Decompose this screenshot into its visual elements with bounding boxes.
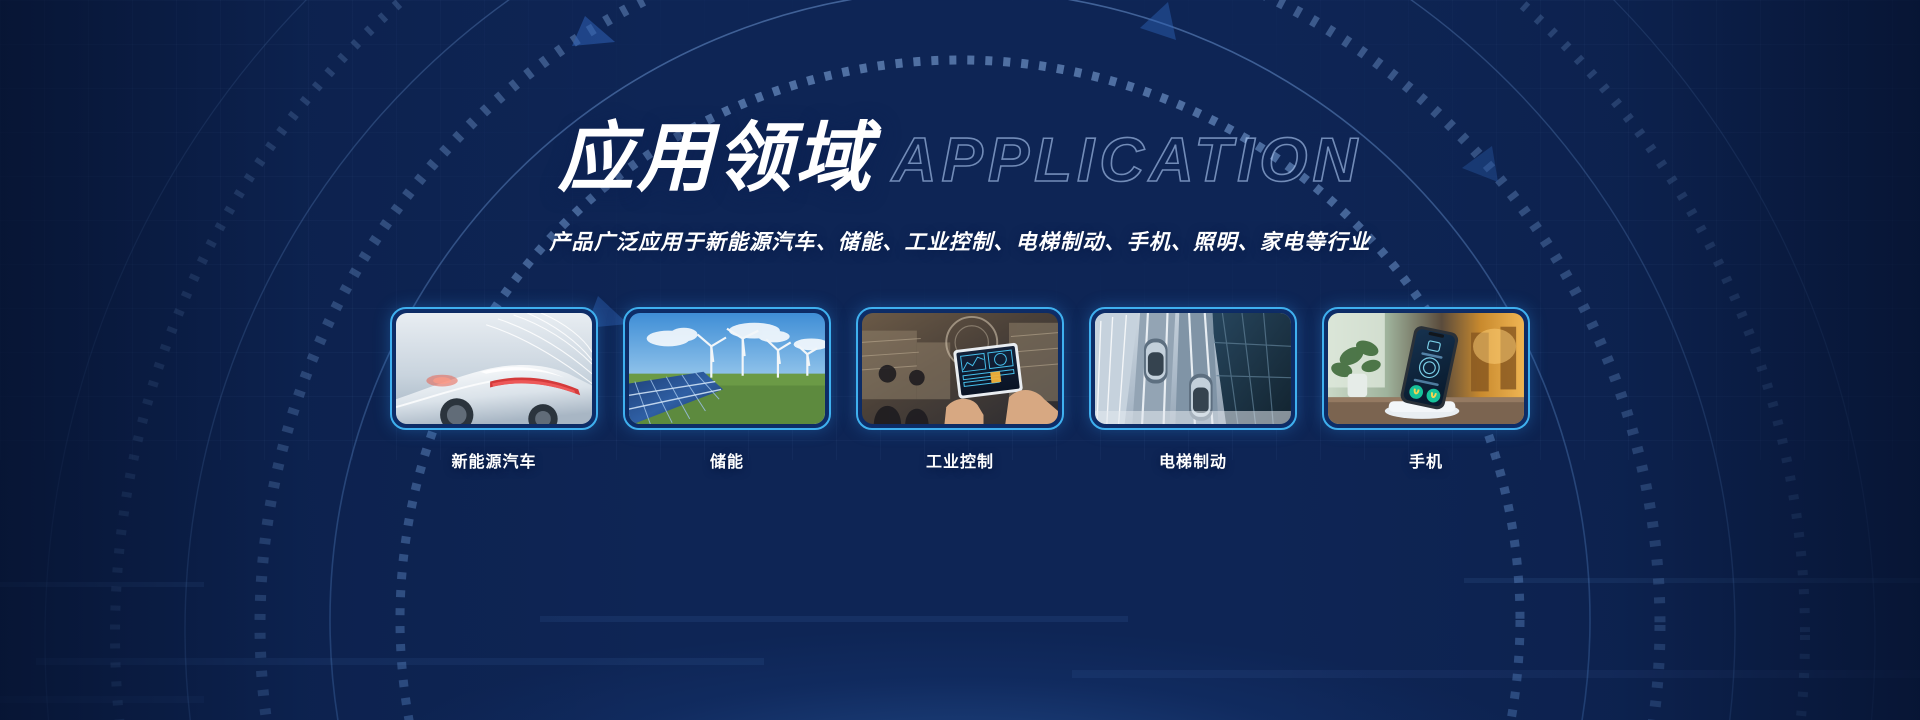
card-frame[interactable] [390, 307, 598, 430]
page-title: 应用领域 [558, 120, 874, 196]
floor-light-streaks [0, 520, 1920, 720]
mobile-phone-image [1328, 313, 1524, 424]
ev-car-image [396, 313, 592, 424]
card-frame[interactable] [856, 307, 1064, 430]
industrial-control-image [862, 313, 1058, 424]
application-card-list: 新能源汽车 [0, 307, 1920, 472]
title-row: 应用领域 APPLICATION [0, 112, 1920, 204]
card-frame[interactable] [1089, 307, 1297, 430]
elevator-brake-image [1095, 313, 1291, 424]
application-card-ev-car[interactable]: 新能源汽车 [390, 307, 598, 472]
banner-heading-block: 应用领域 APPLICATION 产品广泛应用于新能源汽车、储能、工业控制、电梯… [0, 112, 1920, 256]
card-label: 工业控制 [856, 448, 1064, 472]
card-label: 电梯制动 [1089, 448, 1297, 472]
application-card-energy-storage[interactable]: 储能 [623, 307, 831, 472]
card-frame[interactable] [1322, 307, 1530, 430]
energy-storage-image [629, 313, 825, 424]
page-subtitle: 产品广泛应用于新能源汽车、储能、工业控制、电梯制动、手机、照明、家电等行业 [0, 226, 1920, 256]
card-frame[interactable] [623, 307, 831, 430]
application-card-mobile-phone[interactable]: 手机 [1322, 307, 1530, 472]
card-label: 新能源汽车 [390, 448, 598, 472]
card-label: 储能 [623, 448, 831, 472]
card-label: 手机 [1322, 448, 1530, 472]
application-card-industrial-control[interactable]: 工业控制 [856, 307, 1064, 472]
application-banner: 应用领域 APPLICATION 产品广泛应用于新能源汽车、储能、工业控制、电梯… [0, 0, 1920, 720]
application-card-elevator-brake[interactable]: 电梯制动 [1089, 307, 1297, 472]
page-title-english: APPLICATION [892, 124, 1363, 192]
